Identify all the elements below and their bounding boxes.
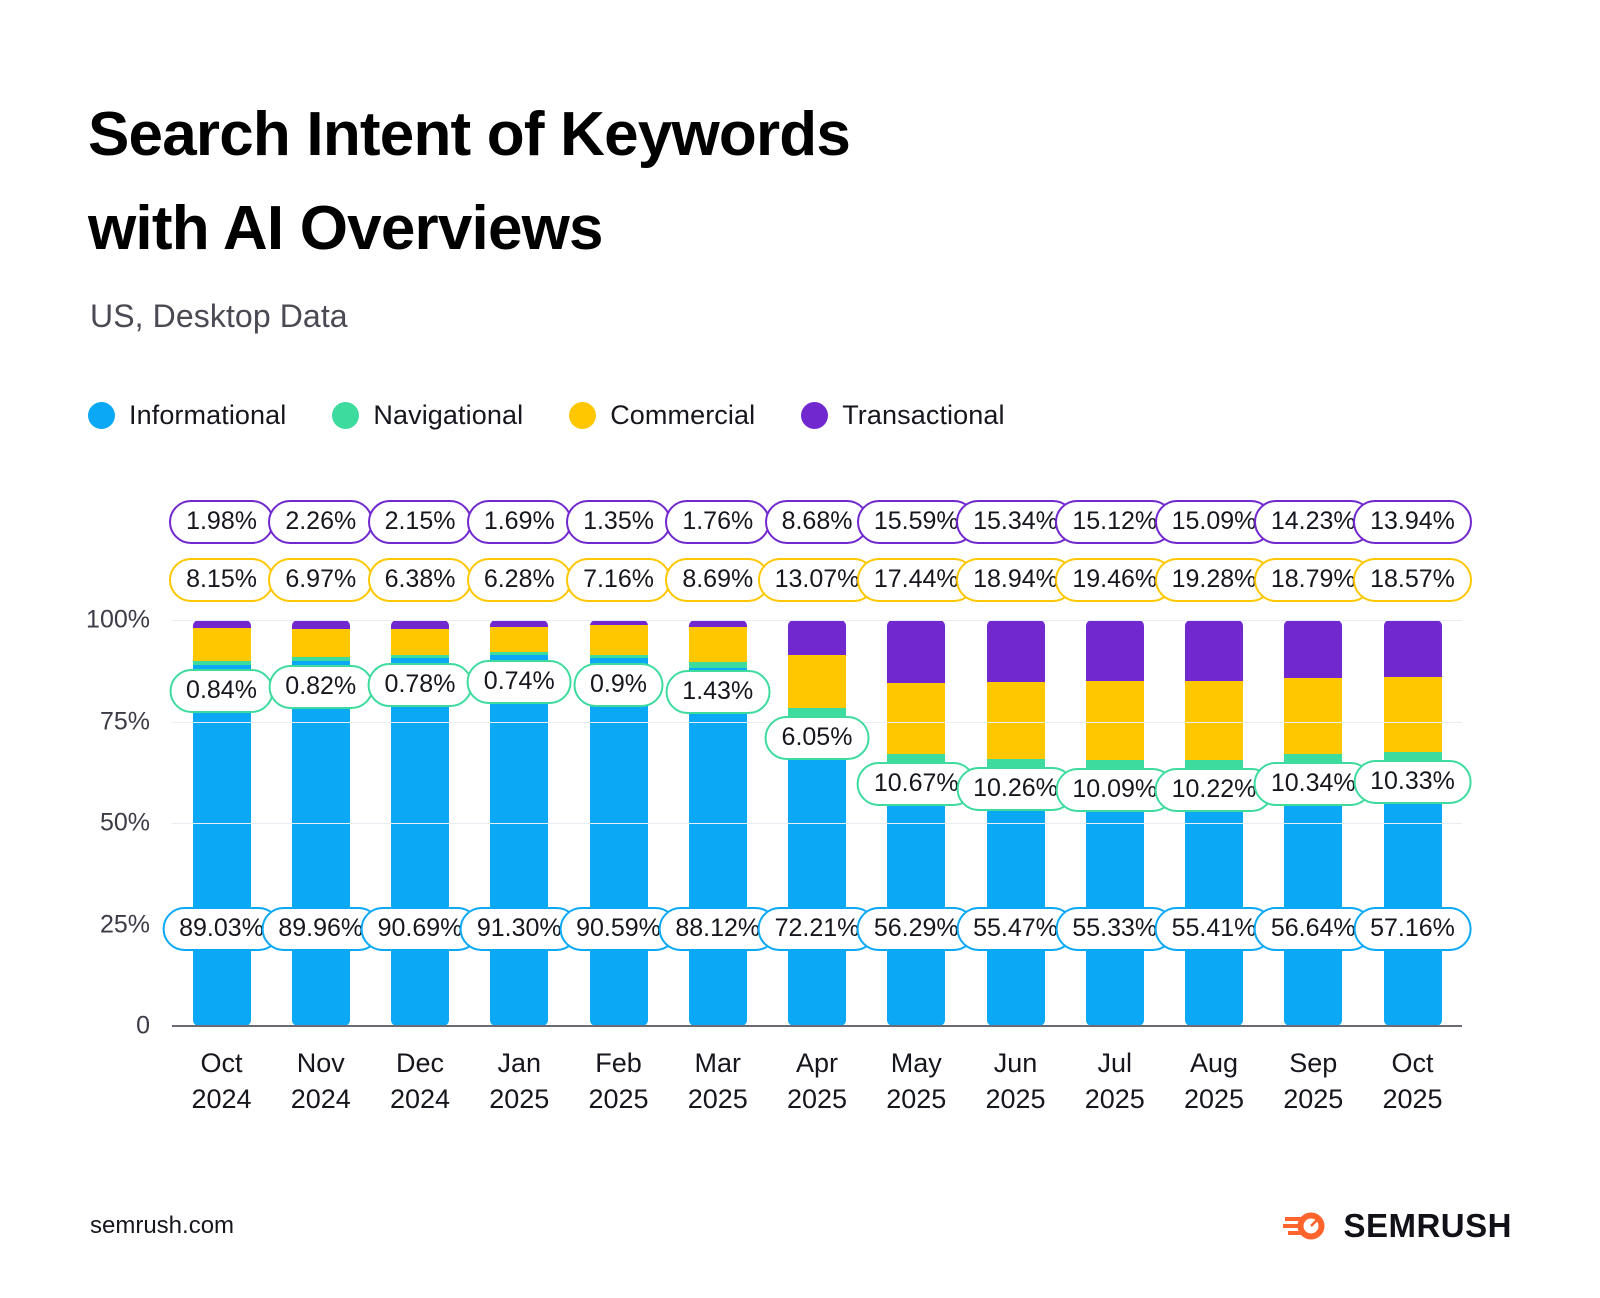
label-slot: 15.59% xyxy=(867,500,966,544)
legend-item-label: Navigational xyxy=(373,400,523,431)
bar-segment-informational[interactable] xyxy=(292,661,350,1026)
value-label-navigational: 0.78% xyxy=(368,663,473,707)
bar-segment-commercial[interactable] xyxy=(689,627,747,662)
legend-item-informational[interactable]: Informational xyxy=(88,400,286,431)
value-label-transactional: 2.26% xyxy=(268,500,373,544)
label-slot: 18.94% xyxy=(966,558,1065,602)
chart-page: Search Intent of Keywords with AI Overvi… xyxy=(0,0,1600,1298)
value-label-navigational: 0.84% xyxy=(169,669,274,713)
bar-segment-transactional[interactable] xyxy=(193,620,251,628)
value-label-navigational: 1.43% xyxy=(665,670,770,714)
label-slot: 2.15% xyxy=(371,500,470,544)
value-label-transactional: 2.15% xyxy=(368,500,473,544)
x-axis-label: Oct 2025 xyxy=(1363,1046,1462,1118)
label-slot: 8.69% xyxy=(668,558,767,602)
transactional-label-row: 1.98%2.26%2.15%1.69%1.35%1.76%8.68%15.59… xyxy=(172,500,1462,544)
brand-name: SEMRUSH xyxy=(1343,1207,1512,1245)
value-label-transactional: 1.98% xyxy=(169,500,274,544)
value-label-transactional: 1.76% xyxy=(665,500,770,544)
x-axis-label: Aug 2025 xyxy=(1165,1046,1264,1118)
bar-segment-commercial[interactable] xyxy=(1185,681,1243,759)
label-slot: 15.34% xyxy=(966,500,1065,544)
y-axis-tick: 75% xyxy=(40,707,150,736)
label-slot: 6.38% xyxy=(371,558,470,602)
legend-item-label: Commercial xyxy=(610,400,755,431)
x-axis-label: Jul 2025 xyxy=(1065,1046,1164,1118)
label-slot: 18.79% xyxy=(1264,558,1363,602)
x-axis-label: Jun 2025 xyxy=(966,1046,1065,1118)
bar-segment-transactional[interactable] xyxy=(987,620,1045,682)
x-axis-label: Mar 2025 xyxy=(668,1046,767,1118)
bar-segment-informational[interactable] xyxy=(193,665,251,1026)
value-label-transactional: 13.94% xyxy=(1353,500,1472,544)
commercial-label-row: 8.15%6.97%6.38%6.28%7.16%8.69%13.07%17.4… xyxy=(172,558,1462,602)
value-label-navigational: 0.82% xyxy=(268,665,373,709)
value-label-transactional: 1.35% xyxy=(566,500,671,544)
bar-segment-commercial[interactable] xyxy=(887,683,945,754)
value-label-transactional: 8.68% xyxy=(765,500,870,544)
label-slot: 6.28% xyxy=(470,558,569,602)
x-axis-label: Apr 2025 xyxy=(768,1046,867,1118)
bar-segment-transactional[interactable] xyxy=(292,620,350,629)
bar-segment-transactional[interactable] xyxy=(689,620,747,627)
label-slot: 14.23% xyxy=(1264,500,1363,544)
value-label-navigational: 0.9% xyxy=(573,663,664,707)
bar-segment-commercial[interactable] xyxy=(1284,678,1342,754)
value-label-commercial: 8.69% xyxy=(665,558,770,602)
bar-segment-transactional[interactable] xyxy=(1185,620,1243,681)
label-slot: 8.15% xyxy=(172,558,271,602)
bar-segment-transactional[interactable] xyxy=(788,620,846,655)
bar-segment-transactional[interactable] xyxy=(490,620,548,627)
value-label-commercial: 6.28% xyxy=(467,558,572,602)
label-slot: 18.57% xyxy=(1363,558,1462,602)
plot-area: 89.03%0.84%89.96%0.82%90.69%0.78%91.30%0… xyxy=(172,620,1462,1026)
x-axis-label: Jan 2025 xyxy=(470,1046,569,1118)
label-slot: 1.76% xyxy=(668,500,767,544)
x-axis-line xyxy=(172,1025,1462,1027)
bar-segment-informational[interactable] xyxy=(490,655,548,1026)
legend-dot-icon xyxy=(88,402,115,429)
bar-segment-transactional[interactable] xyxy=(1086,620,1144,681)
bar-segment-informational[interactable] xyxy=(788,733,846,1026)
label-slot: 17.44% xyxy=(867,558,966,602)
legend-dot-icon xyxy=(332,402,359,429)
value-label-transactional: 1.69% xyxy=(467,500,572,544)
x-axis-label: Dec 2024 xyxy=(371,1046,470,1118)
bar-segment-transactional[interactable] xyxy=(391,620,449,629)
bar-segment-commercial[interactable] xyxy=(490,627,548,652)
brand-logo: SEMRUSH xyxy=(1283,1205,1512,1246)
x-axis-label: Feb 2025 xyxy=(569,1046,668,1118)
label-slot: 19.28% xyxy=(1165,558,1264,602)
value-label-commercial: 18.57% xyxy=(1353,558,1472,602)
label-slot: 15.09% xyxy=(1165,500,1264,544)
x-axis-label: May 2025 xyxy=(867,1046,966,1118)
gridline xyxy=(172,620,1462,621)
y-axis-tick: 100% xyxy=(40,606,150,635)
label-slot: 2.26% xyxy=(271,500,370,544)
bar-segment-transactional[interactable] xyxy=(887,620,945,683)
bar-segment-informational[interactable] xyxy=(590,658,648,1026)
bar-segment-commercial[interactable] xyxy=(292,629,350,657)
label-slot: 1.98% xyxy=(172,500,271,544)
label-slot: 1.69% xyxy=(470,500,569,544)
page-title: Search Intent of Keywords with AI Overvi… xyxy=(88,88,1188,276)
x-axis-label: Sep 2025 xyxy=(1264,1046,1363,1118)
bar-segment-commercial[interactable] xyxy=(1384,677,1442,752)
y-axis-tick: 0 xyxy=(40,1012,150,1041)
x-axis-label: Oct 2024 xyxy=(172,1046,271,1118)
label-slot: 6.97% xyxy=(271,558,370,602)
y-axis-tick: 25% xyxy=(40,910,150,939)
y-axis-tick: 50% xyxy=(40,809,150,838)
value-label-commercial: 6.38% xyxy=(368,558,473,602)
bar-segment-commercial[interactable] xyxy=(590,625,648,654)
legend-item-commercial[interactable]: Commercial xyxy=(569,400,755,431)
label-slot: 1.35% xyxy=(569,500,668,544)
chart-area: 1.98%2.26%2.15%1.69%1.35%1.76%8.68%15.59… xyxy=(88,500,1512,1130)
label-slot: 13.94% xyxy=(1363,500,1462,544)
value-label-commercial: 7.16% xyxy=(566,558,671,602)
bar-segment-commercial[interactable] xyxy=(788,655,846,708)
gridline xyxy=(172,823,1462,824)
bar-segment-commercial[interactable] xyxy=(193,628,251,661)
label-slot: 19.46% xyxy=(1065,558,1164,602)
legend-item-label: Transactional xyxy=(842,400,1004,431)
bar-segment-transactional[interactable] xyxy=(1384,620,1442,677)
footer-url[interactable]: semrush.com xyxy=(90,1212,234,1240)
value-label-commercial: 8.15% xyxy=(169,558,274,602)
x-axis-label: Nov 2024 xyxy=(271,1046,370,1118)
semrush-comet-logo-icon xyxy=(1283,1205,1329,1246)
page-subtitle: US, Desktop Data xyxy=(90,298,348,335)
legend-dot-icon xyxy=(569,402,596,429)
value-label-navigational: 0.74% xyxy=(467,660,572,704)
bar-segment-transactional[interactable] xyxy=(1284,620,1342,678)
label-slot: 8.68% xyxy=(768,500,867,544)
value-label-commercial: 6.97% xyxy=(268,558,373,602)
value-label-navigational: 10.33% xyxy=(1353,760,1472,804)
value-label-informational: 57.16% xyxy=(1353,907,1472,951)
label-slot: 7.16% xyxy=(569,558,668,602)
legend-item-navigational[interactable]: Navigational xyxy=(332,400,523,431)
chart-legend: InformationalNavigationalCommercialTrans… xyxy=(88,400,1005,431)
legend-item-transactional[interactable]: Transactional xyxy=(801,400,1004,431)
label-slot: 15.12% xyxy=(1065,500,1164,544)
x-axis-labels: Oct 2024Nov 2024Dec 2024Jan 2025Feb 2025… xyxy=(172,1046,1462,1118)
legend-item-label: Informational xyxy=(129,400,286,431)
value-label-navigational: 6.05% xyxy=(765,716,870,760)
legend-dot-icon xyxy=(801,402,828,429)
label-slot: 13.07% xyxy=(768,558,867,602)
bar-segment-commercial[interactable] xyxy=(391,629,449,655)
bar-segment-informational[interactable] xyxy=(391,658,449,1026)
